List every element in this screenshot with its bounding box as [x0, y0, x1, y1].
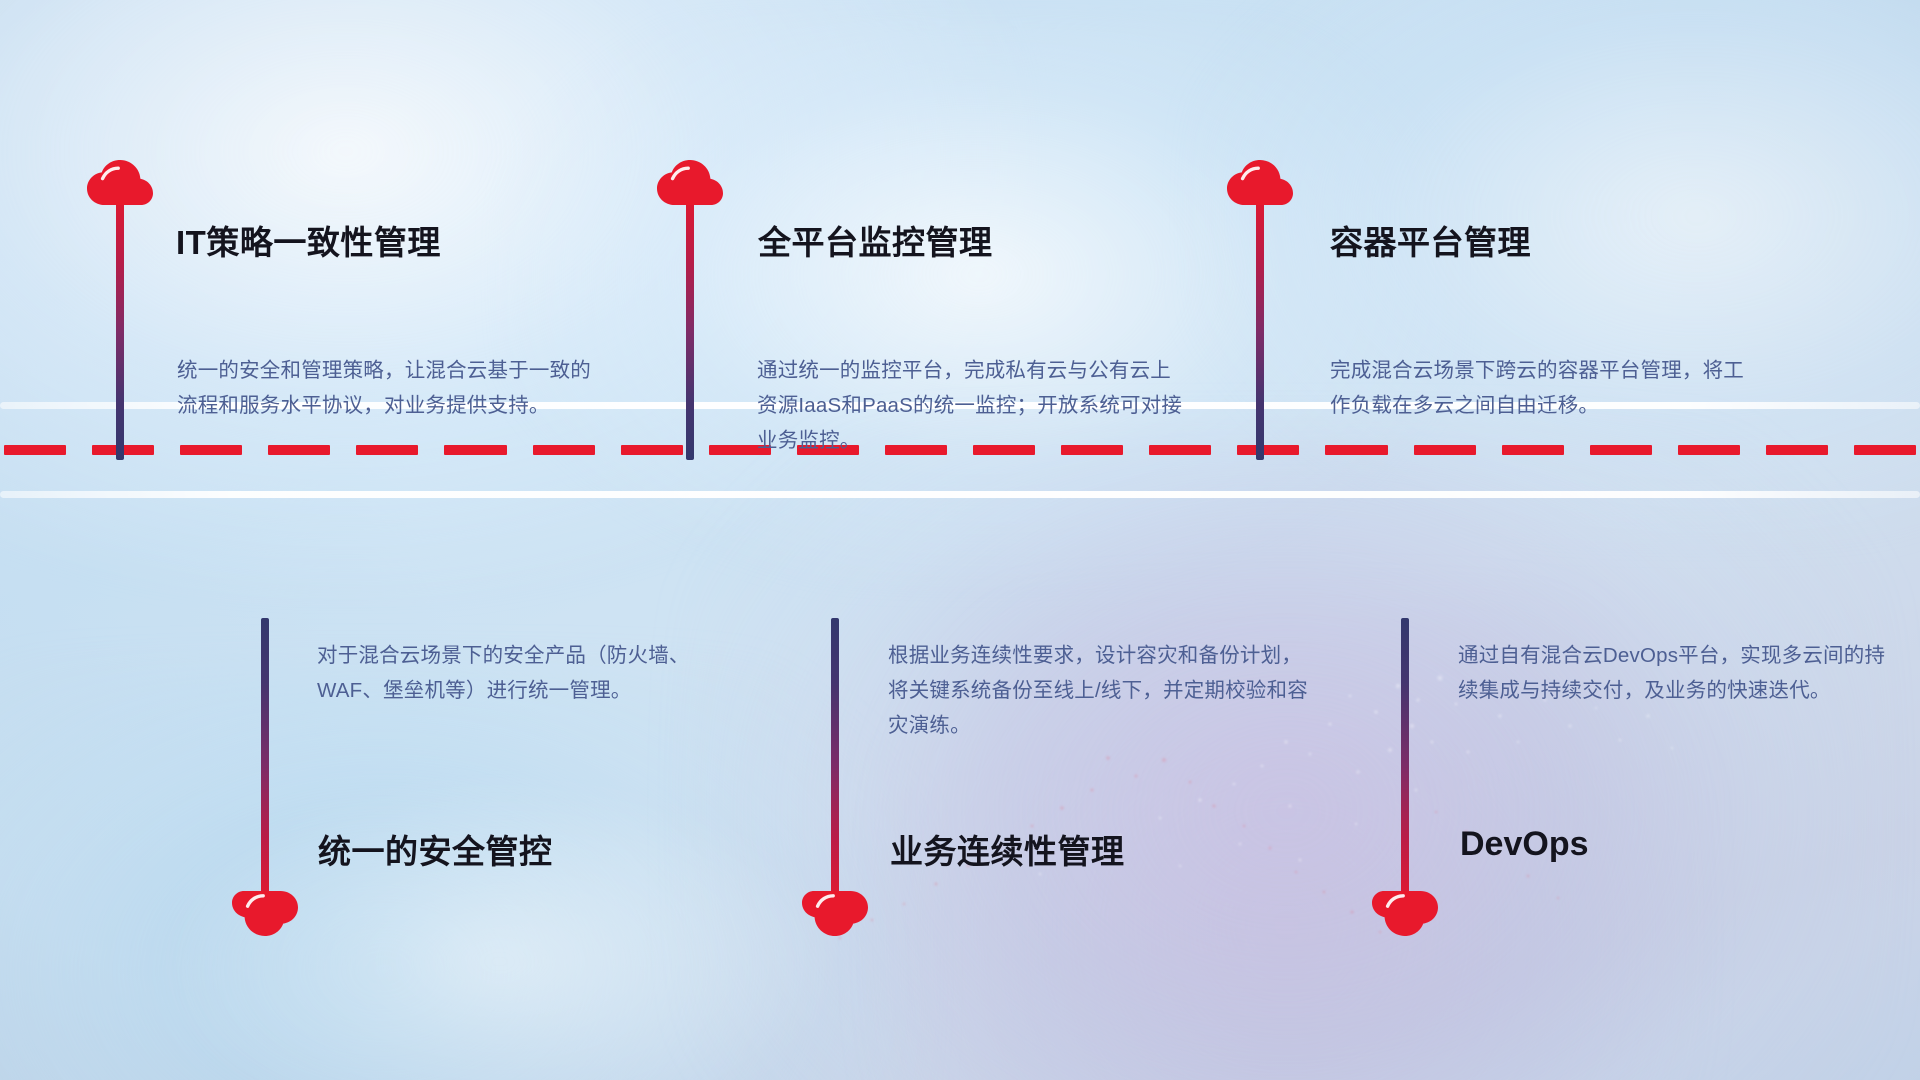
cloud-icon	[1227, 160, 1293, 206]
divider-dash	[533, 445, 595, 455]
stem-bottom-3	[1401, 618, 1409, 910]
divider-dash	[180, 445, 242, 455]
pin-marker-bottom-2	[800, 618, 870, 936]
divider-dash	[268, 445, 330, 455]
pin-marker-top-1	[85, 160, 155, 460]
divider-dash	[1502, 445, 1564, 455]
stem-top-1	[116, 186, 124, 460]
stem-top-3	[1256, 186, 1264, 460]
card-heading: DevOps	[1460, 825, 1589, 864]
stem-bottom-2	[831, 618, 839, 910]
card-body-text: 统一的安全和管理策略，让混合云基于一致的流程和服务水平协议，对业务提供支持。	[177, 353, 607, 423]
cloud-icon	[1372, 890, 1438, 936]
card-body-text: 根据业务连续性要求，设计容灾和备份计划，将关键系统备份至线上/线下，并定期校验和…	[888, 638, 1318, 743]
divider-dash	[356, 445, 418, 455]
cloud-icon	[232, 890, 298, 936]
divider-dash	[4, 445, 66, 455]
card-heading: IT策略一致性管理	[176, 216, 441, 264]
cloud-icon	[802, 890, 868, 936]
card-heading: 业务连续性管理	[890, 825, 1125, 873]
stem-bottom-1	[261, 618, 269, 910]
divider-dash	[1325, 445, 1387, 455]
cloud-icon	[87, 160, 153, 206]
card-heading: 容器平台管理	[1330, 216, 1531, 264]
card-body-text: 对于混合云场景下的安全产品（防火墙、WAF、堡垒机等）进行统一管理。	[317, 638, 747, 708]
divider-dash	[1678, 445, 1740, 455]
card-heading: 统一的安全管控	[318, 825, 553, 873]
card-heading: 全平台监控管理	[758, 216, 993, 264]
cloud-icon	[657, 160, 723, 206]
pin-marker-bottom-1	[230, 618, 300, 936]
divider-dash	[1414, 445, 1476, 455]
card-body-text: 完成混合云场景下跨云的容器平台管理，将工作负载在多云之间自由迁移。	[1330, 353, 1760, 423]
divider-dash	[1766, 445, 1828, 455]
divider-rail-bottom	[0, 491, 1920, 498]
stem-top-2	[686, 186, 694, 460]
infographic-canvas: IT策略一致性管理 统一的安全和管理策略，让混合云基于一致的流程和服务水平协议，…	[0, 0, 1920, 1080]
divider-dash	[444, 445, 506, 455]
pin-marker-top-3	[1225, 160, 1295, 460]
divider-dash	[1590, 445, 1652, 455]
card-body-text: 通过统一的监控平台，完成私有云与公有云上资源IaaS和PaaS的统一监控；开放系…	[757, 353, 1187, 458]
pin-marker-top-2	[655, 160, 725, 460]
card-body-text: 通过自有混合云DevOps平台，实现多云间的持续集成与持续交付，及业务的快速迭代…	[1458, 638, 1888, 708]
pin-marker-bottom-3	[1370, 618, 1440, 936]
divider-dash	[1854, 445, 1916, 455]
